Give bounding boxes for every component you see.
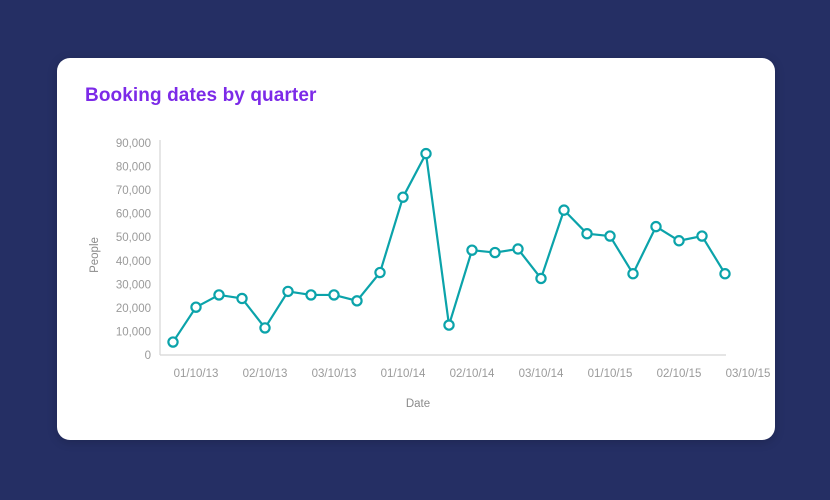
y-axis-tick-label: 10,000 <box>116 326 151 338</box>
y-axis-tick-label: 80,000 <box>116 162 151 174</box>
data-point-marker[interactable] <box>237 294 246 303</box>
x-axis-tick-label: 02/10/13 <box>243 368 288 380</box>
data-point-marker[interactable] <box>490 248 499 257</box>
x-axis-tick-label: 01/10/14 <box>381 368 426 380</box>
x-axis-tick-label: 03/10/14 <box>519 368 564 380</box>
chart-card: Booking dates by quarter 010,00020,00030… <box>57 58 775 440</box>
data-line-people <box>173 154 725 342</box>
y-axis-tick-label: 50,000 <box>116 232 151 244</box>
data-point-marker[interactable] <box>582 229 591 238</box>
data-point-marker[interactable] <box>467 246 476 255</box>
x-axis-tick-label: 02/10/14 <box>450 368 495 380</box>
y-axis-tick-label: 40,000 <box>116 256 151 268</box>
data-point-marker[interactable] <box>421 149 430 158</box>
y-axis-tick-label: 20,000 <box>116 303 151 315</box>
x-axis-tick-label: 01/10/15 <box>588 368 633 380</box>
data-point-marker[interactable] <box>306 290 315 299</box>
data-point-marker[interactable] <box>168 337 177 346</box>
x-axis-title: Date <box>406 398 430 410</box>
data-point-marker[interactable] <box>720 269 729 278</box>
data-point-marker[interactable] <box>651 222 660 231</box>
line-chart-svg: 010,00020,00030,00040,00050,00060,00070,… <box>57 58 775 440</box>
data-point-marker[interactable] <box>214 290 223 299</box>
data-point-marker[interactable] <box>329 290 338 299</box>
data-point-marker[interactable] <box>260 323 269 332</box>
data-point-marker[interactable] <box>444 320 453 329</box>
y-axis-tick-label: 30,000 <box>116 279 151 291</box>
x-axis-tick-label: 03/10/13 <box>312 368 357 380</box>
y-axis-tick-label: 90,000 <box>116 138 151 150</box>
x-axis-tick-label: 01/10/13 <box>174 368 219 380</box>
data-point-marker[interactable] <box>559 206 568 215</box>
chart-plot-area: 010,00020,00030,00040,00050,00060,00070,… <box>57 58 775 440</box>
y-axis-tick-label: 70,000 <box>116 185 151 197</box>
data-point-marker[interactable] <box>375 268 384 277</box>
data-point-marker[interactable] <box>352 296 361 305</box>
x-axis-tick-label: 03/10/15 <box>726 368 771 380</box>
y-axis-tick-group: 010,00020,00030,00040,00050,00060,00070,… <box>116 138 151 362</box>
y-axis-tick-label: 0 <box>145 350 151 362</box>
data-point-marker[interactable] <box>536 274 545 283</box>
x-axis-tick-label: 02/10/15 <box>657 368 702 380</box>
data-point-marker[interactable] <box>605 231 614 240</box>
y-axis-title: People <box>89 237 101 273</box>
y-axis-tick-label: 60,000 <box>116 209 151 221</box>
data-point-marker[interactable] <box>628 269 637 278</box>
data-point-marker[interactable] <box>674 236 683 245</box>
data-point-marker[interactable] <box>283 287 292 296</box>
data-point-marker[interactable] <box>191 303 200 312</box>
data-point-marker[interactable] <box>697 231 706 240</box>
data-point-marker[interactable] <box>398 193 407 202</box>
data-point-marker[interactable] <box>513 244 522 253</box>
x-axis-tick-group: 01/10/1302/10/1303/10/1301/10/1402/10/14… <box>174 368 771 380</box>
